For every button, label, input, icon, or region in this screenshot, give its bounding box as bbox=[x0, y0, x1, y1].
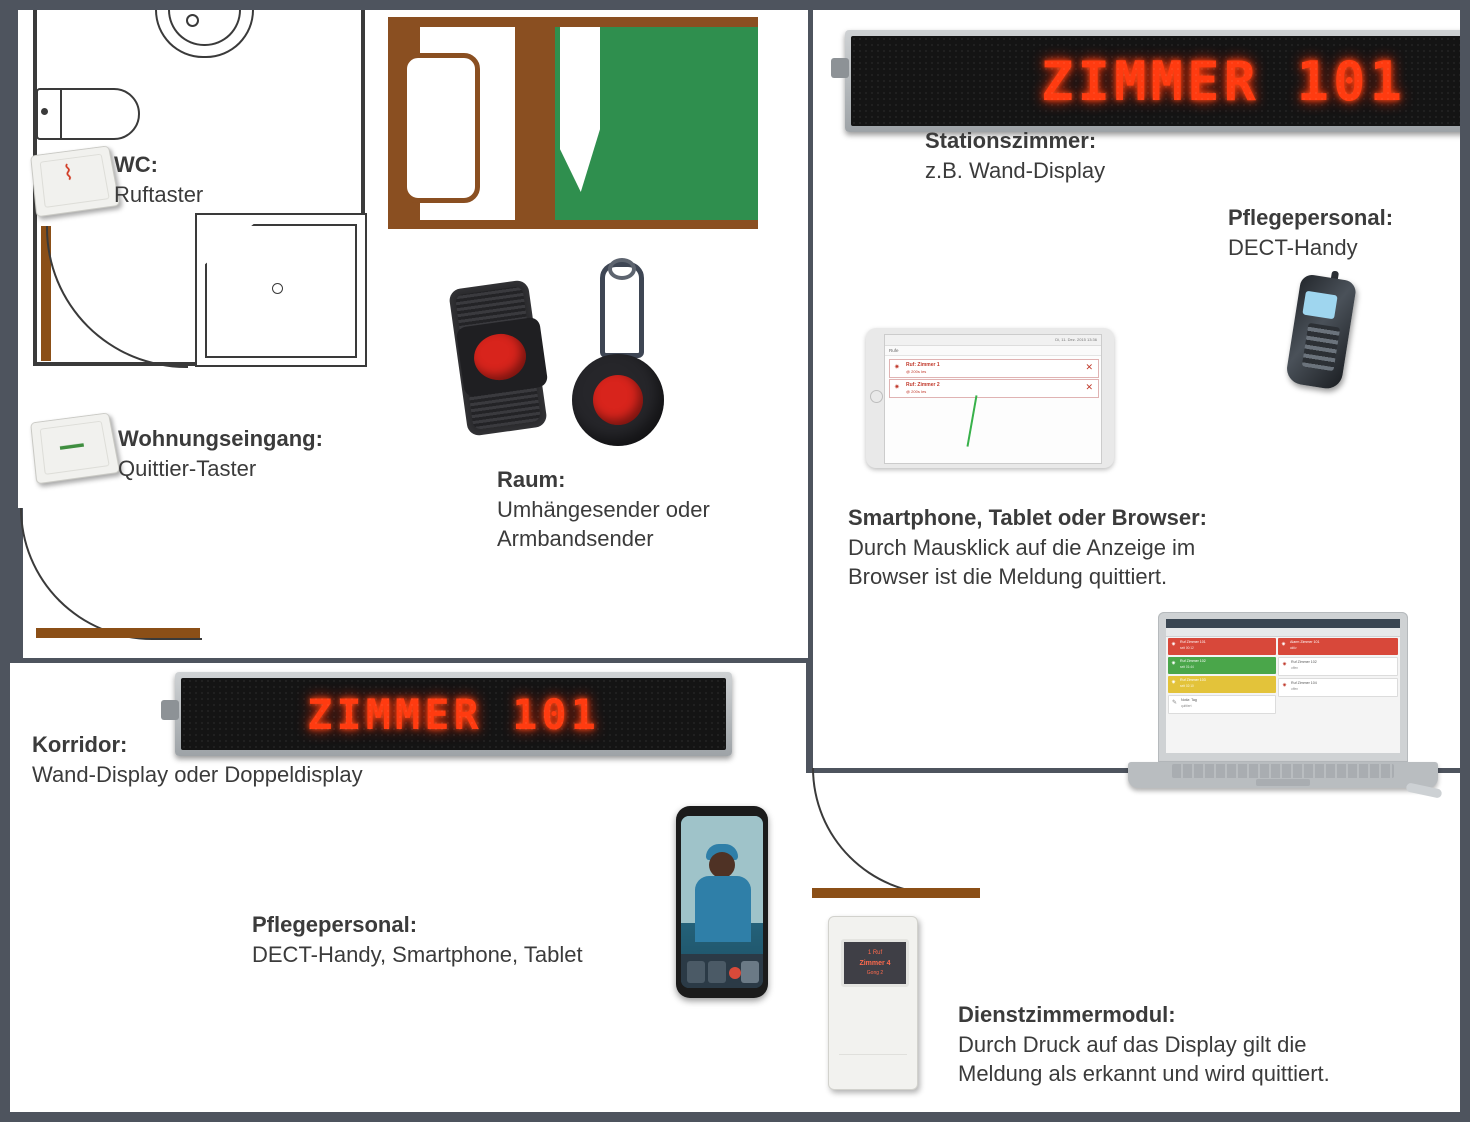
pendant-ring bbox=[608, 258, 636, 280]
call-card[interactable]: ✷ Ruf Zimmer 103 seit 02:10 bbox=[1168, 676, 1276, 693]
dismiss-icon[interactable]: ✕ bbox=[1085, 363, 1093, 372]
label-entrance-title: Wohnungseingang: bbox=[118, 424, 323, 454]
door-photo-opening bbox=[402, 53, 480, 203]
label-duty-line1: Durch Druck auf das Display gilt die bbox=[958, 1030, 1330, 1060]
label-korridor-line1: Wand-Display oder Doppeldisplay bbox=[32, 760, 363, 790]
duty-module-display[interactable]: 1 Ruf Zimmer 4 Gong 2 bbox=[841, 939, 909, 987]
duty-module-line3: Gong 2 bbox=[844, 970, 906, 976]
label-station-line1: z.B. Wand-Display bbox=[925, 156, 1105, 186]
entrance-acknowledge-button[interactable]: ▬▬ bbox=[30, 412, 120, 484]
call-card-title: Ruf Zimmer 102 bbox=[1180, 659, 1206, 663]
label-wc-line1: Ruftaster bbox=[114, 180, 203, 210]
call-card-title: Ruf Zimmer 104 bbox=[1291, 681, 1317, 685]
tablet-call-title: Ruf: Zimmer 1 bbox=[906, 362, 940, 369]
video-thumbnail[interactable] bbox=[708, 961, 726, 983]
call-card-sub: offen bbox=[1291, 687, 1298, 691]
note-icon: ✎ bbox=[1172, 700, 1177, 706]
label-wc-title: WC: bbox=[114, 150, 203, 180]
sink-drain-icon bbox=[186, 14, 199, 27]
door-photo-leaf bbox=[515, 27, 555, 220]
call-card-sub: seit 01:44 bbox=[1180, 665, 1194, 669]
acknowledge-icon: ▬▬ bbox=[59, 437, 84, 452]
bell-icon: ✷ bbox=[1171, 642, 1176, 648]
tablet-status-bar: Di, 11. Dez. 2015 13:36 bbox=[885, 335, 1101, 346]
label-smart-line1: Durch Mausklick auf die Anzeige im bbox=[848, 533, 1207, 563]
call-card-sub: seit 02:10 bbox=[1180, 684, 1194, 688]
call-card[interactable]: ✷ Ruf Zimmer 104 offen bbox=[1278, 678, 1398, 697]
diagram-canvas: ⌇ ▬▬ ZIMMER 101 ZIMMER 101 bbox=[0, 0, 1470, 1122]
door-photo-frame-bottom bbox=[388, 220, 758, 229]
toilet-tank-icon bbox=[36, 88, 62, 140]
label-smart-title: Smartphone, Tablet oder Browser: bbox=[848, 503, 1207, 533]
laptop-screen[interactable]: ✷ Ruf Zimmer 101 seit 00:12 ✷ Ruf Zimmer… bbox=[1166, 619, 1400, 753]
label-staff-corridor: Pflegepersonal: DECT-Handy, Smartphone, … bbox=[252, 910, 583, 969]
label-entrance-line1: Quittier-Taster bbox=[118, 454, 323, 484]
pendant-transmitter-button[interactable] bbox=[593, 375, 643, 425]
smartphone-device bbox=[676, 806, 768, 998]
call-card-title: Alarm Zimmer 101 bbox=[1290, 640, 1320, 644]
tablet-device: Di, 11. Dez. 2015 13:36 Rufe ✷ Ruf: Zimm… bbox=[866, 328, 1114, 468]
call-card-sub: quittiert bbox=[1181, 704, 1191, 708]
bell-icon: ✷ bbox=[1171, 680, 1176, 686]
end-call-button[interactable] bbox=[729, 967, 741, 979]
duty-module-line2: Zimmer 4 bbox=[844, 960, 906, 967]
label-room-title: Raum: bbox=[497, 465, 710, 495]
label-staff-corridor-title: Pflegepersonal: bbox=[252, 910, 583, 940]
tablet-call-sub: @ 200s Ies bbox=[906, 369, 926, 374]
laptop-browser-toolbar bbox=[1166, 628, 1400, 637]
station-wall-display: ZIMMER 101 bbox=[845, 30, 1470, 132]
duty-room-door-leaf bbox=[812, 888, 980, 898]
nurse-head-icon bbox=[709, 852, 735, 878]
corridor-display-mount-tab bbox=[161, 700, 179, 720]
label-smart: Smartphone, Tablet oder Browser: Durch M… bbox=[848, 503, 1207, 592]
nurse-body-icon bbox=[695, 876, 751, 942]
label-dect: Pflegepersonal: DECT-Handy bbox=[1228, 203, 1393, 262]
call-card-sub: aktiv bbox=[1290, 646, 1297, 650]
label-wc: WC: Ruftaster bbox=[114, 150, 203, 209]
call-card-sub: seit 00:12 bbox=[1180, 646, 1194, 650]
label-dect-line1: DECT-Handy bbox=[1228, 233, 1393, 263]
tablet-call-title: Ruf: Zimmer 2 bbox=[906, 382, 940, 389]
bell-icon: ✷ bbox=[1281, 642, 1286, 648]
tablet-call-row[interactable]: ✷ Ruf: Zimmer 1 @ 200s Ies ✕ bbox=[889, 359, 1099, 378]
video-thumbnail[interactable] bbox=[687, 961, 705, 983]
label-room-line2: Armbandsender bbox=[497, 524, 710, 554]
wc-call-button[interactable]: ⌇ bbox=[30, 145, 120, 217]
door-photo-strip bbox=[560, 27, 600, 192]
door-photo-frame-top bbox=[388, 17, 758, 27]
call-card-sub: offen bbox=[1291, 666, 1298, 670]
label-korridor: Korridor: Wand-Display oder Doppeldispla… bbox=[32, 730, 363, 789]
label-station-title: Stationszimmer: bbox=[925, 126, 1105, 156]
bell-icon: ✷ bbox=[894, 364, 900, 371]
dismiss-icon[interactable]: ✕ bbox=[1085, 383, 1093, 392]
duty-module-divider bbox=[839, 1054, 907, 1055]
tablet-tab-strip[interactable]: Rufe bbox=[885, 346, 1101, 356]
label-staff-corridor-line1: DECT-Handy, Smartphone, Tablet bbox=[252, 940, 583, 970]
tablet-tab-label: Rufe bbox=[889, 348, 899, 353]
label-room-line1: Umhängesender oder bbox=[497, 495, 710, 525]
laptop-browser-titlebar bbox=[1166, 619, 1400, 628]
tablet-call-row[interactable]: ✷ Ruf: Zimmer 2 @ 200s Ies ✕ bbox=[889, 379, 1099, 398]
laptop-call-list-right: ✷ Alarm Zimmer 101 aktiv ✷ Ruf Zimmer 10… bbox=[1278, 638, 1398, 699]
label-korridor-title: Korridor: bbox=[32, 730, 363, 760]
label-smart-line2: Browser ist die Meldung quittiert. bbox=[848, 562, 1207, 592]
bell-icon: ✷ bbox=[1282, 662, 1287, 668]
label-station: Stationszimmer: z.B. Wand-Display bbox=[925, 126, 1105, 185]
door-photo bbox=[388, 17, 758, 229]
laptop-trackpad[interactable] bbox=[1256, 779, 1310, 786]
bell-icon: ✷ bbox=[894, 384, 900, 391]
video-controls-bar[interactable] bbox=[681, 954, 763, 988]
laptop-device: ✷ Ruf Zimmer 101 seit 00:12 ✷ Ruf Zimmer… bbox=[1128, 612, 1438, 817]
laptop-lid: ✷ Ruf Zimmer 101 seit 00:12 ✷ Ruf Zimmer… bbox=[1158, 612, 1408, 762]
call-card-title: Ruf Zimmer 103 bbox=[1180, 678, 1206, 682]
laptop-call-list-left: ✷ Ruf Zimmer 101 seit 00:12 ✷ Ruf Zimmer… bbox=[1168, 638, 1276, 716]
entrance-door-leaf bbox=[36, 628, 200, 638]
call-card[interactable]: ✷ Ruf Zimmer 101 seit 00:12 bbox=[1168, 638, 1276, 655]
bell-icon: ✷ bbox=[1282, 683, 1287, 689]
shower-drain-icon bbox=[272, 283, 283, 294]
duty-module-line1: 1 Ruf bbox=[844, 950, 906, 956]
smartphone-screen[interactable] bbox=[681, 816, 763, 988]
call-card-title: Notiz: Tag bbox=[1181, 698, 1197, 702]
call-card[interactable]: ✷ Alarm Zimmer 101 aktiv bbox=[1278, 638, 1398, 655]
duty-room-module[interactable]: 1 Ruf Zimmer 4 Gong 2 bbox=[828, 916, 918, 1090]
label-duty-title: Dienstzimmermodul: bbox=[958, 1000, 1330, 1030]
label-entrance: Wohnungseingang: Quittier-Taster bbox=[118, 424, 323, 483]
led-dot-matrix bbox=[851, 36, 1470, 126]
dect-handset bbox=[1293, 277, 1349, 387]
display-mount-tab bbox=[831, 58, 849, 78]
video-thumbnail[interactable] bbox=[741, 961, 759, 983]
tablet-home-button[interactable] bbox=[870, 390, 883, 403]
dect-keypad[interactable] bbox=[1302, 323, 1340, 371]
toilet-flush-icon bbox=[41, 108, 48, 115]
station-display-screen: ZIMMER 101 bbox=[851, 36, 1470, 126]
laptop-keyboard[interactable] bbox=[1172, 764, 1394, 778]
call-card[interactable]: ✷ Ruf Zimmer 102 offen bbox=[1278, 657, 1398, 676]
label-duty: Dienstzimmermodul: Durch Druck auf das D… bbox=[958, 1000, 1330, 1089]
label-dect-title: Pflegepersonal: bbox=[1228, 203, 1393, 233]
transmitter-group bbox=[450, 262, 710, 477]
tablet-cursor-trace bbox=[967, 395, 978, 447]
tablet-clock: Di, 11. Dez. 2015 13:36 bbox=[1055, 337, 1097, 342]
tablet-screen[interactable]: Di, 11. Dez. 2015 13:36 Rufe ✷ Ruf: Zimm… bbox=[884, 334, 1102, 464]
call-card[interactable]: ✷ Ruf Zimmer 102 seit 01:44 bbox=[1168, 657, 1276, 674]
label-room: Raum: Umhängesender oder Armbandsender bbox=[497, 465, 710, 554]
call-card[interactable]: ✎ Notiz: Tag quittiert bbox=[1168, 695, 1276, 714]
bell-icon: ✷ bbox=[1171, 661, 1176, 667]
call-card-title: Ruf Zimmer 101 bbox=[1180, 640, 1206, 644]
call-card-title: Ruf Zimmer 102 bbox=[1291, 660, 1317, 664]
tablet-call-sub: @ 200s Ies bbox=[906, 389, 926, 394]
dect-screen bbox=[1302, 291, 1337, 320]
label-duty-line2: Meldung als erkannt und wird quittiert. bbox=[958, 1059, 1330, 1089]
